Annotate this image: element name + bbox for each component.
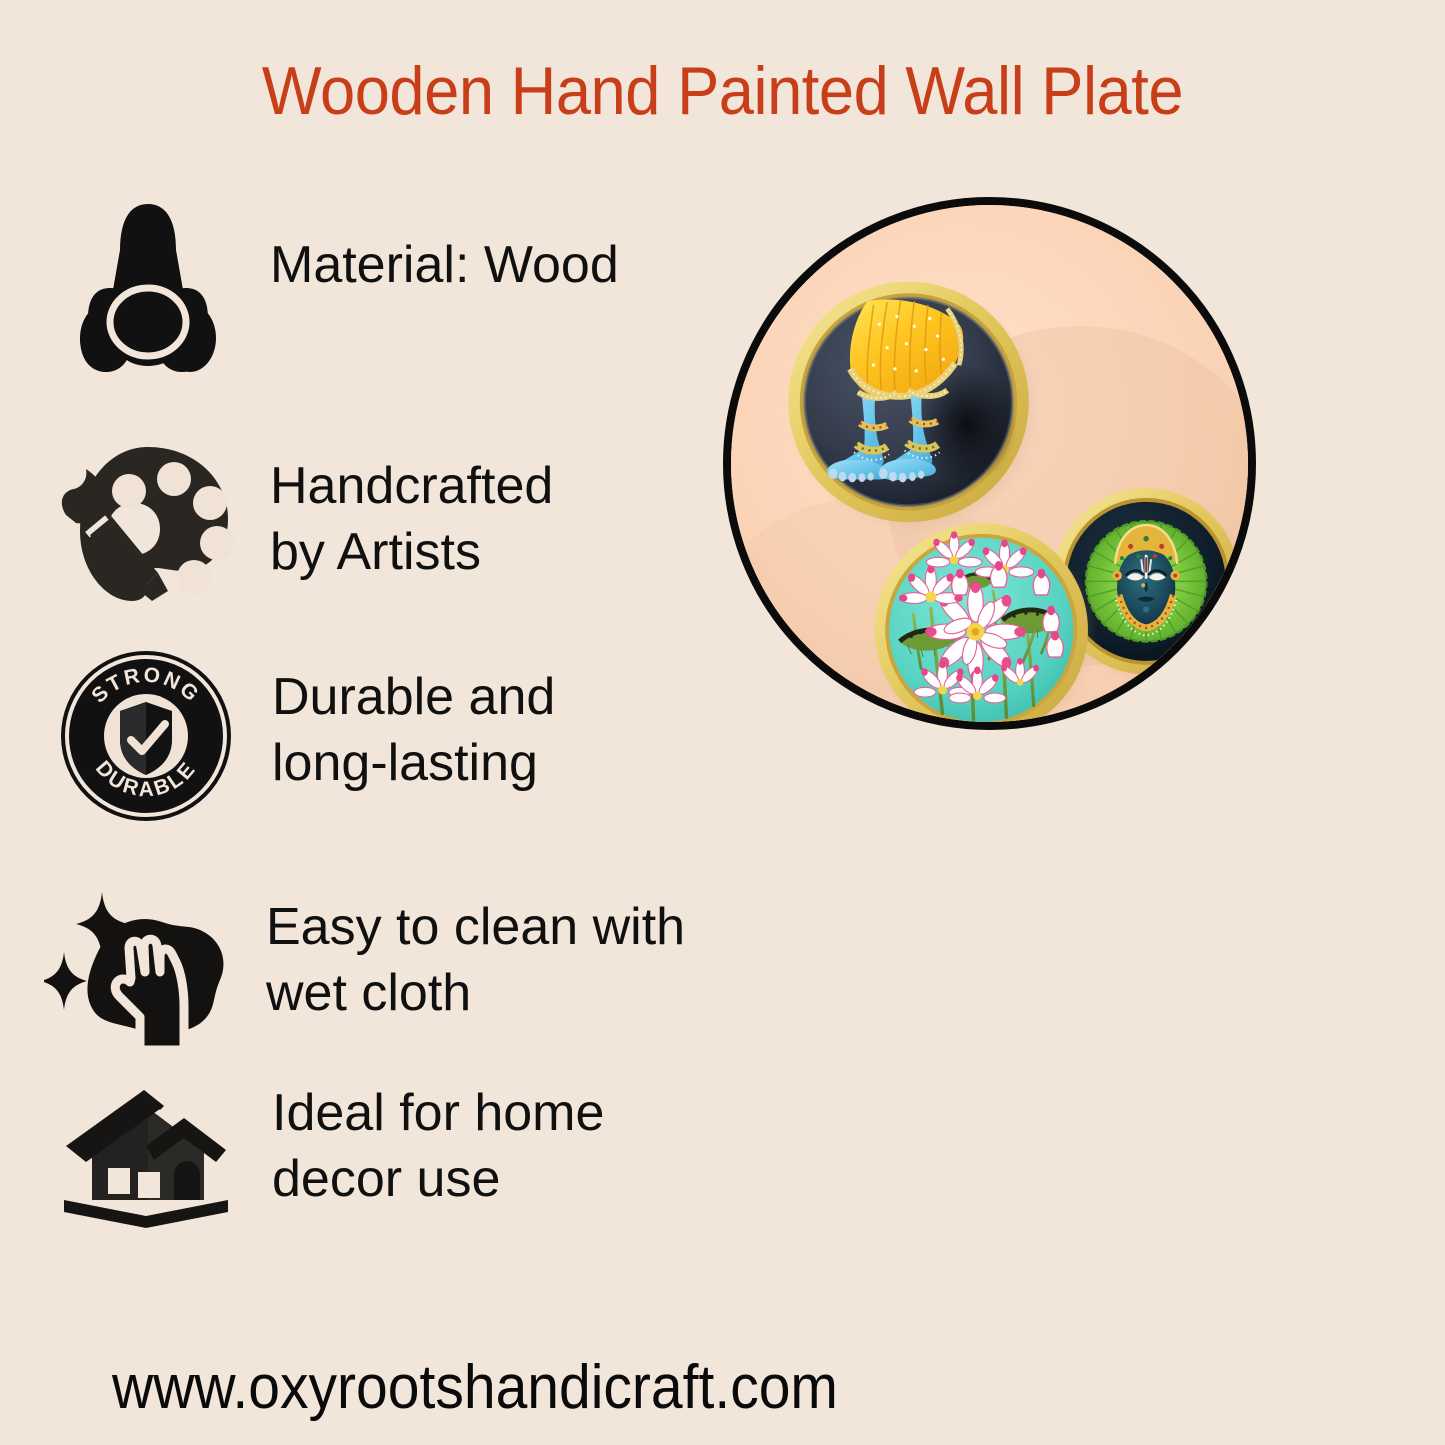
feature-label: Material: Wood (270, 232, 619, 298)
feature-label: Easy to clean with wet cloth (266, 894, 685, 1026)
page-title: Wooden Hand Painted Wall Plate (51, 52, 1395, 130)
website-url: www.oxyrootshandicraft.com (112, 1352, 838, 1423)
sparkle-cleaning-hand-icon (44, 886, 240, 1054)
feature-label: Durable and long-lasting (272, 664, 555, 796)
feature-item-home-decor: Ideal for home decor use (48, 1088, 604, 1228)
feature-item-durable: STRONG DURABLE Durable and long-lasting (58, 648, 555, 824)
paint-palette-icon (48, 435, 238, 615)
house-icon (48, 1088, 244, 1228)
feature-item-material: Material: Wood (58, 190, 619, 375)
wood-logs-icon (58, 190, 238, 375)
three-hand-painted-wall-plates-photo (723, 197, 1256, 730)
feature-item-easy-clean: Easy to clean with wet cloth (44, 886, 685, 1054)
strong-durable-badge-icon: STRONG DURABLE (58, 648, 234, 824)
feature-label: Handcrafted by Artists (270, 453, 553, 585)
infographic-canvas: Wooden Hand Painted Wall Plate (0, 0, 1445, 1445)
feature-label: Ideal for home decor use (272, 1080, 604, 1212)
feature-item-handcrafted: Handcrafted by Artists (48, 435, 553, 615)
